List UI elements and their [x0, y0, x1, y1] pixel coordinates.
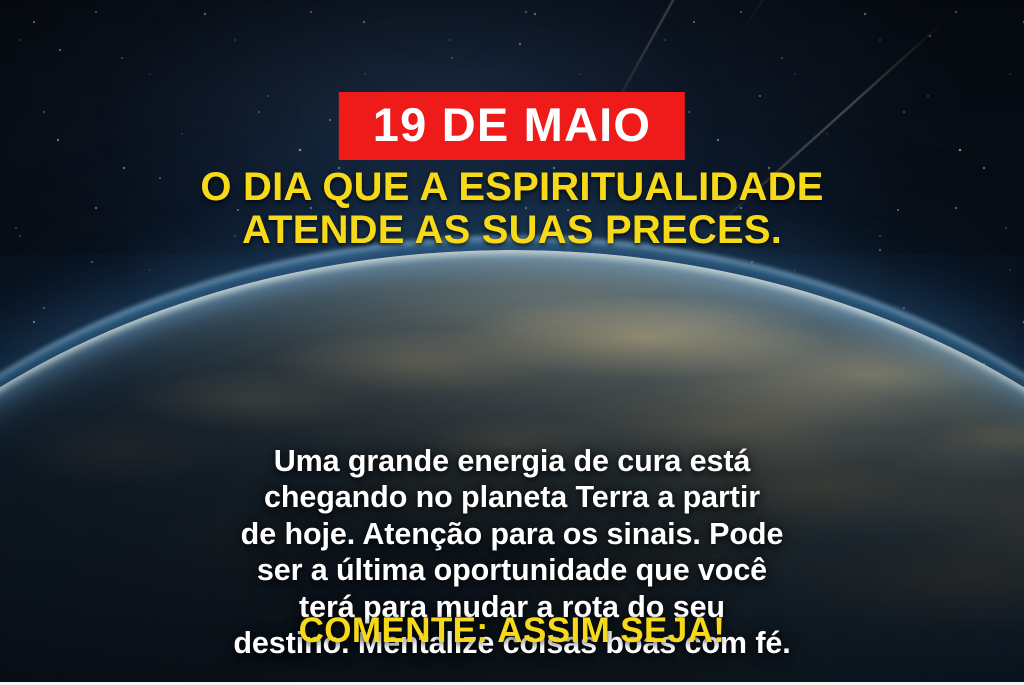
call-to-action-text: COMENTE: ASSIM SEJA!	[299, 611, 726, 651]
body-line-2: chegando no planeta Terra a partir	[72, 479, 952, 515]
date-banner-label: 19 DE MAIO	[373, 101, 651, 148]
body-line-1: Uma grande energia de cura está	[72, 443, 952, 479]
headline: O DIA QUE A ESPIRITUALIDADE ATENDE AS SU…	[32, 166, 992, 252]
date-banner: 19 DE MAIO	[339, 92, 685, 160]
body-line-3: de hoje. Atenção para os sinais. Pode	[72, 516, 952, 552]
poster-image: 19 DE MAIO O DIA QUE A ESPIRITUALIDADE A…	[0, 0, 1024, 685]
headline-line-2: ATENDE AS SUAS PRECES.	[32, 209, 992, 252]
headline-line-1: O DIA QUE A ESPIRITUALIDADE	[32, 166, 992, 209]
body-line-4: ser a última oportunidade que você	[72, 552, 952, 588]
poster-content: 19 DE MAIO O DIA QUE A ESPIRITUALIDADE A…	[0, 0, 1024, 682]
